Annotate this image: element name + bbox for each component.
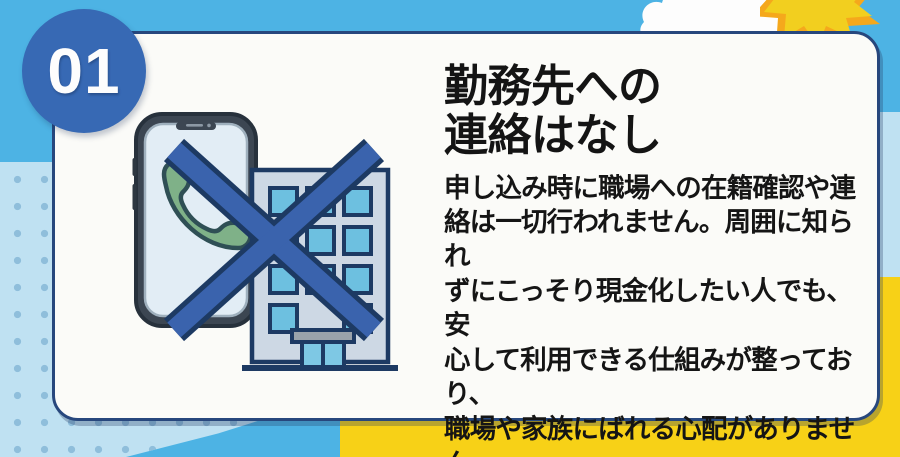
body-paragraph: 申し込み時に職場への在籍確認や連 絡は一切行われません。周囲に知られ ずにこっそ… [444, 171, 864, 457]
no-workplace-contact-illustration [130, 100, 415, 385]
step-number-label: 01 [47, 39, 120, 103]
page-title: 勤務先への 連絡はなし [444, 62, 864, 161]
infographic-card-slide: 01 [0, 0, 900, 457]
step-number-badge: 01 [22, 9, 146, 133]
text-column: 勤務先への 連絡はなし 申し込み時に職場への在籍確認や連 絡は一切行われません。… [444, 62, 864, 457]
